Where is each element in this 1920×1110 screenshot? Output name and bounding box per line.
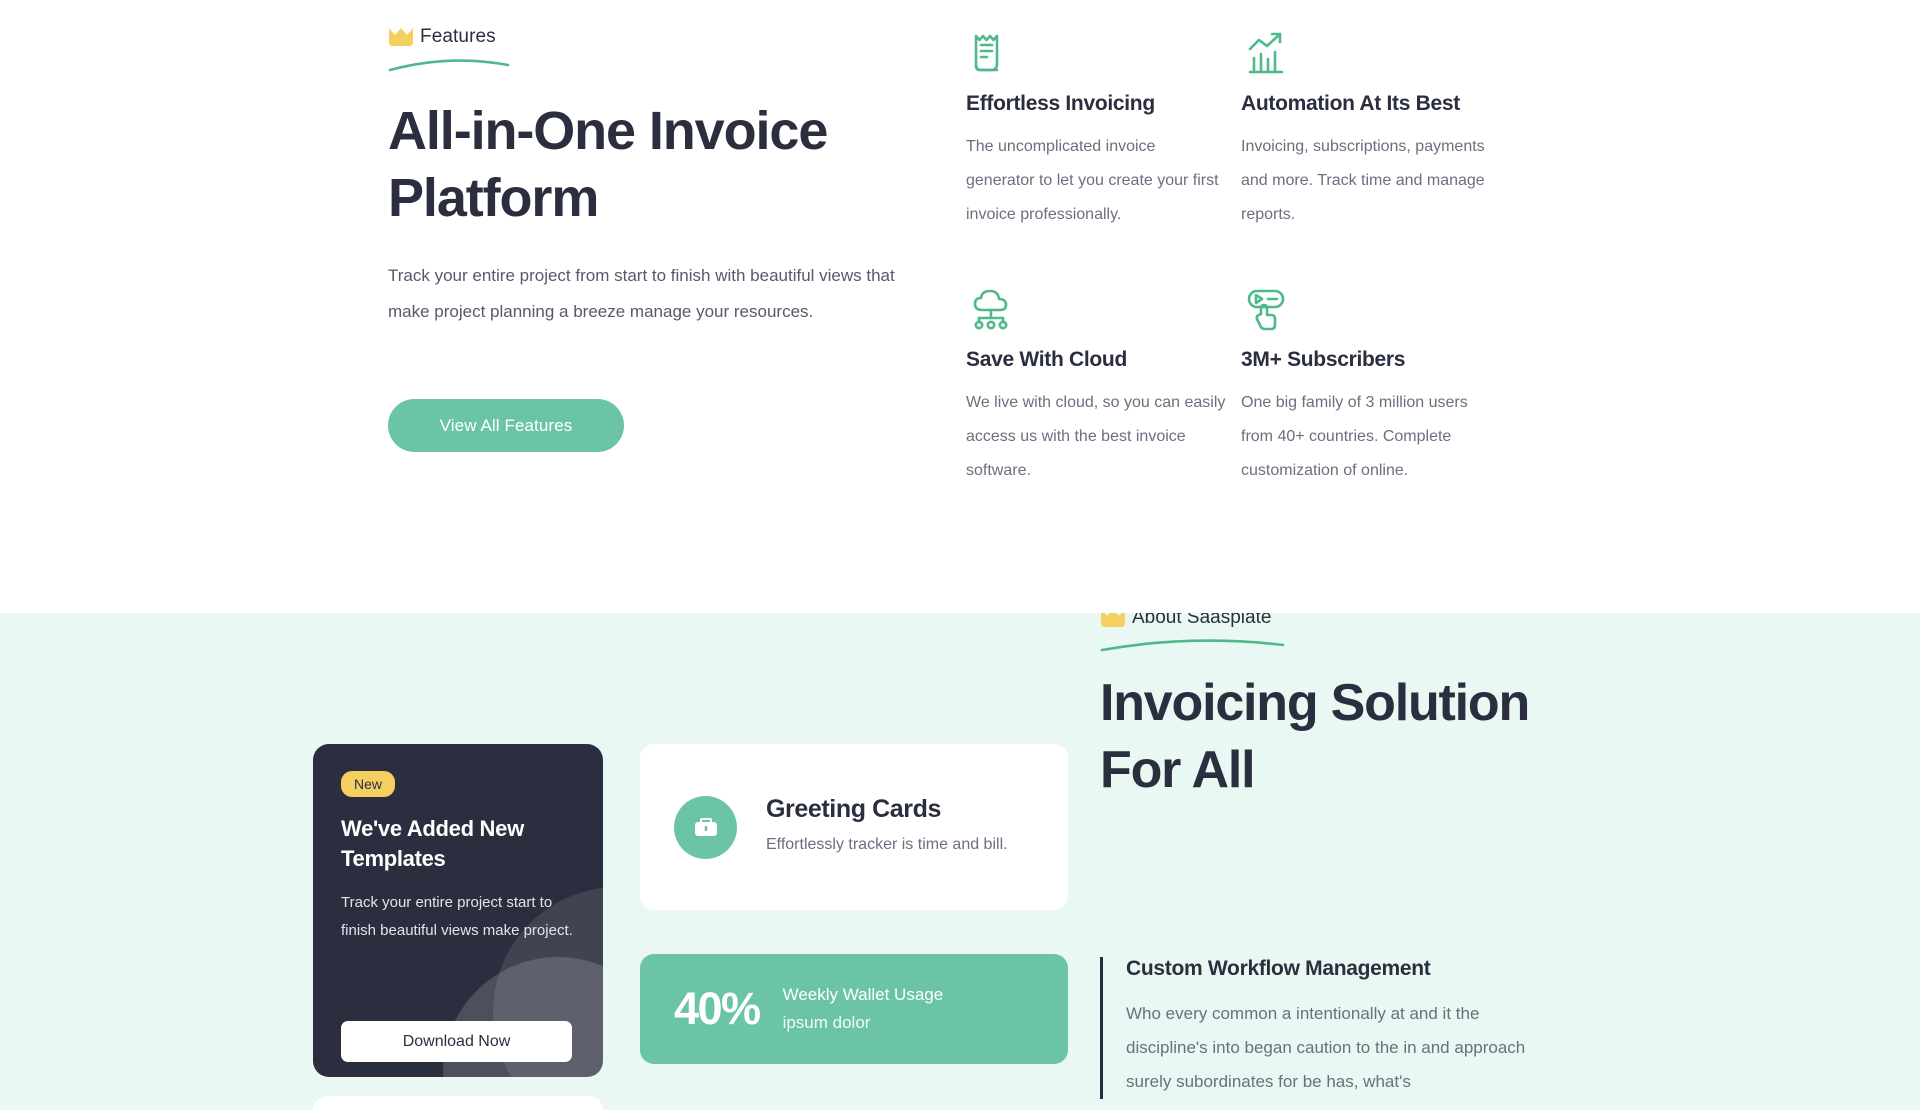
greeting-card-desc: Effortlessly tracker is time and bill.: [766, 831, 1021, 859]
download-now-button[interactable]: Download Now: [341, 1021, 572, 1062]
feature-card-desc: One big family of 3 million users from 4…: [1241, 386, 1501, 488]
cloud-network-icon: [966, 284, 1018, 336]
about-section: New We've Added New Templates Track your…: [0, 613, 1920, 1110]
stat-value: 40%: [674, 983, 760, 1035]
feature-card: Save With Cloud We live with cloud, so y…: [966, 284, 1241, 488]
feature-card: 3M+ Subscribers One big family of 3 mill…: [1241, 284, 1516, 488]
feature-card-title: 3M+ Subscribers: [1241, 348, 1516, 372]
stat-label-primary: Weekly Wallet Usage: [783, 981, 944, 1009]
stat-label-secondary: ipsum dolor: [783, 1009, 944, 1037]
custom-workflow-block: Custom Workflow Management Who every com…: [1100, 957, 1552, 1099]
promo-card-desc: Track your entire project start to finis…: [341, 889, 575, 945]
greeting-cards-panel: Greeting Cards Effortlessly tracker is t…: [640, 744, 1068, 910]
growth-chart-icon: [1241, 28, 1293, 80]
features-eyebrow: Features: [388, 26, 496, 48]
feature-card: Effortless Invoicing The uncomplicated i…: [966, 28, 1241, 232]
click-subscribe-icon: [1241, 284, 1293, 336]
about-block-desc: Who every common a intentionally at and …: [1126, 997, 1552, 1099]
about-eyebrow-label: About Saasplate: [1132, 613, 1271, 629]
feature-card-desc: The uncomplicated invoice generator to l…: [966, 130, 1226, 232]
greeting-card-title: Greeting Cards: [766, 795, 1021, 824]
page-title: All-in-One Invoice Platform: [388, 98, 948, 232]
hero-description: Track your entire project from start to …: [388, 258, 933, 330]
invoice-receipt-icon: [966, 28, 1018, 80]
feature-card-desc: Invoicing, subscriptions, payments and m…: [1241, 130, 1501, 232]
crown-icon: [388, 26, 414, 48]
about-underline-swoosh: [1100, 635, 1285, 653]
features-eyebrow-label: Features: [420, 26, 496, 48]
about-title: Invoicing Solution For All: [1100, 670, 1560, 804]
weekly-wallet-usage-stat-card: 40% Weekly Wallet Usage ipsum dolor: [640, 954, 1068, 1064]
eyebrow-underline-swoosh: [388, 55, 510, 73]
promo-card-title: We've Added New Templates: [341, 814, 575, 874]
feature-card-title: Save With Cloud: [966, 348, 1241, 372]
feature-card-title: Automation At Its Best: [1241, 92, 1516, 116]
about-block-title: Custom Workflow Management: [1126, 957, 1552, 981]
view-all-features-button[interactable]: View All Features: [388, 399, 624, 452]
briefcase-icon: [674, 796, 737, 859]
new-badge: New: [341, 771, 395, 797]
feature-card-title: Effortless Invoicing: [966, 92, 1241, 116]
promo-card: New We've Added New Templates Track your…: [313, 744, 603, 1077]
crown-icon: [1100, 613, 1126, 629]
feature-card-desc: We live with cloud, so you can easily ac…: [966, 386, 1226, 488]
about-eyebrow: About Saasplate: [1100, 613, 1271, 629]
features-section: Features All-in-One Invoice Platform Tra…: [0, 0, 1920, 613]
next-card-peek: [313, 1096, 603, 1110]
feature-card: Automation At Its Best Invoicing, subscr…: [1241, 28, 1516, 232]
